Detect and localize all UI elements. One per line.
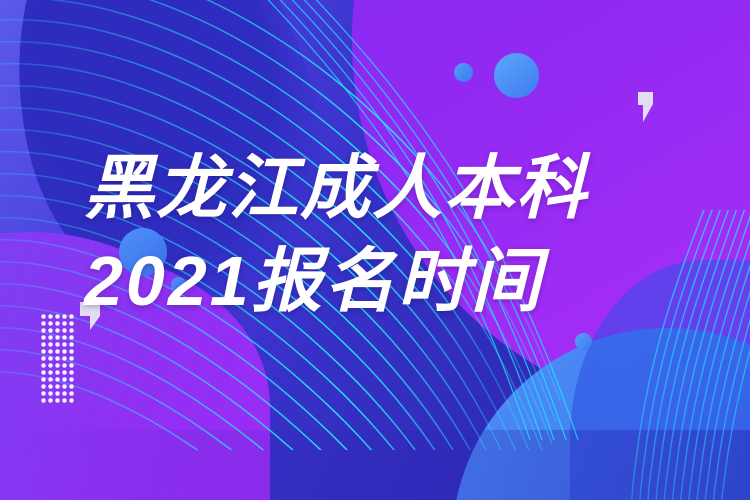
medium-circle-top-icon (494, 53, 539, 98)
small-circle-right-icon (575, 333, 592, 350)
quote-close-glyph (634, 92, 656, 128)
quote-close-icon (634, 92, 656, 128)
headline-line-2: 2021报名时间 (84, 235, 684, 328)
page-title: 黑龙江成人本科 2021报名时间 (84, 142, 684, 328)
dot-grid-pattern (40, 313, 75, 405)
headline-line-1: 黑龙江成人本科 (84, 142, 684, 235)
small-circle-top-icon (454, 63, 473, 82)
promo-banner: 黑龙江成人本科 2021报名时间 (0, 0, 750, 500)
